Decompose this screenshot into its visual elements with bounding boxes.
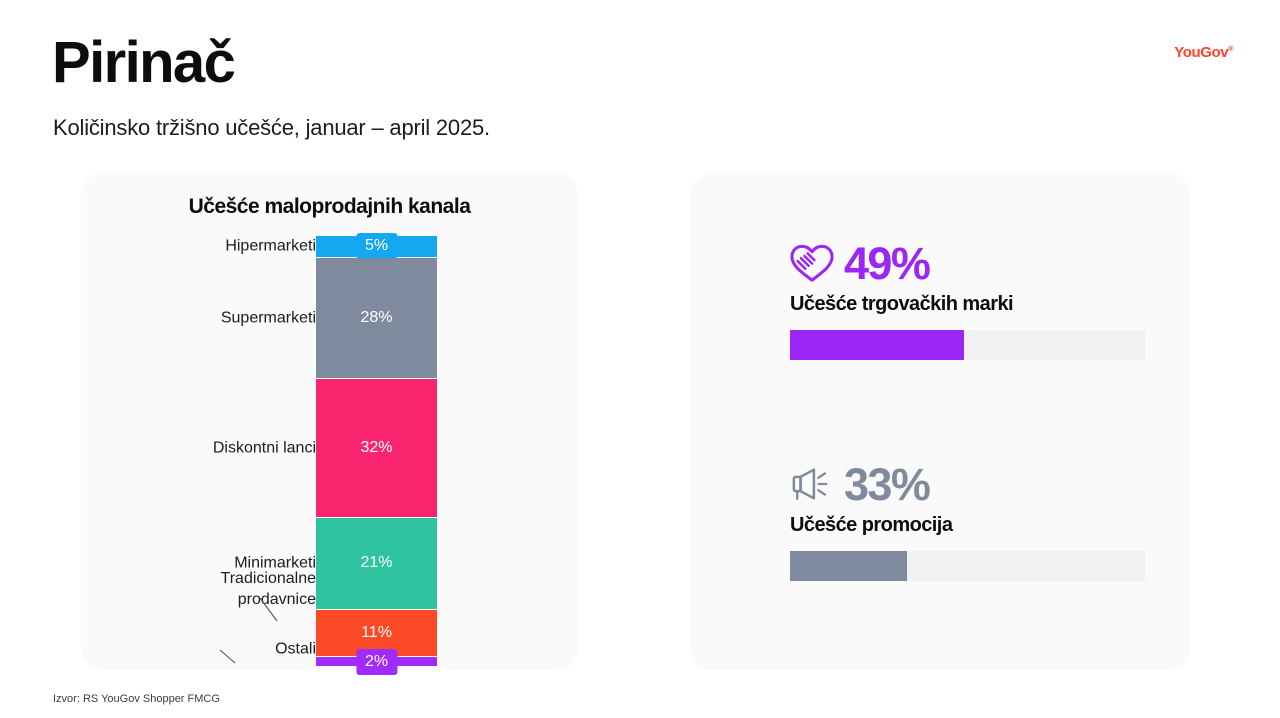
bar-segment-diskontni-lanci[interactable]: 32% [316, 379, 437, 518]
bar-value-tradicionalne-prodavnice: 11% [316, 624, 437, 642]
megaphone-icon [789, 463, 835, 505]
bar-segment-hipermarketi[interactable]: 5% [316, 236, 437, 258]
yougov-logo-text: YouGov [1174, 44, 1228, 61]
kpi-private-label-track [790, 330, 1145, 360]
leader-line-tradicionalne [260, 598, 277, 621]
leader-line-ostali [220, 650, 235, 663]
kpi-promotions-value: 33% [844, 462, 929, 507]
kpi-private-label-head: 49% [789, 235, 1149, 291]
bar-value-supermarketi: 28% [316, 309, 437, 327]
yougov-logo: YouGov® [1174, 44, 1233, 61]
kpi-private-label-value: 49% [844, 241, 929, 286]
kpi-card: 49% Učešće trgovačkih marki 33% Učešće p… [691, 173, 1190, 670]
bar-segment-ostali[interactable]: 2% [316, 657, 437, 666]
bar-value-minimarketi: 21% [316, 554, 437, 572]
bar-segment-minimarketi[interactable]: 21% [316, 518, 437, 609]
bar-value-diskontni-lanci: 32% [316, 439, 437, 457]
page-title: Pirinač [52, 34, 234, 92]
bar-value-ostali: 2% [356, 649, 397, 675]
retail-channel-chart-card: Učešće maloprodajnih kanala Hipermarketi… [81, 173, 578, 670]
kpi-promotions-title: Učešće promocija [790, 514, 1149, 537]
kpi-promotions-head: 33% [789, 456, 1149, 512]
kpi-private-label-fill [790, 330, 964, 360]
bar-value-hipermarketi: 5% [356, 233, 397, 259]
source-note: Izvor: RS YouGov Shopper FMCG [53, 693, 220, 705]
page-subtitle: Količinsko tržišno učešće, januar – apri… [53, 115, 490, 141]
kpi-promotions-fill [790, 551, 907, 581]
bar-segment-supermarketi[interactable]: 28% [316, 258, 437, 380]
registered-mark: ® [1228, 46, 1233, 53]
kpi-promotions-track [790, 551, 1145, 581]
kpi-private-label-title: Učešće trgovačkih marki [790, 293, 1149, 316]
handshake-heart-icon [789, 242, 835, 284]
kpi-private-label: 49% Učešće trgovačkih marki [789, 235, 1149, 360]
stacked-bar-chart: 5% 28% 32% 21% 11% 2% [316, 236, 437, 666]
kpi-promotions: 33% Učešće promocija [789, 456, 1149, 581]
